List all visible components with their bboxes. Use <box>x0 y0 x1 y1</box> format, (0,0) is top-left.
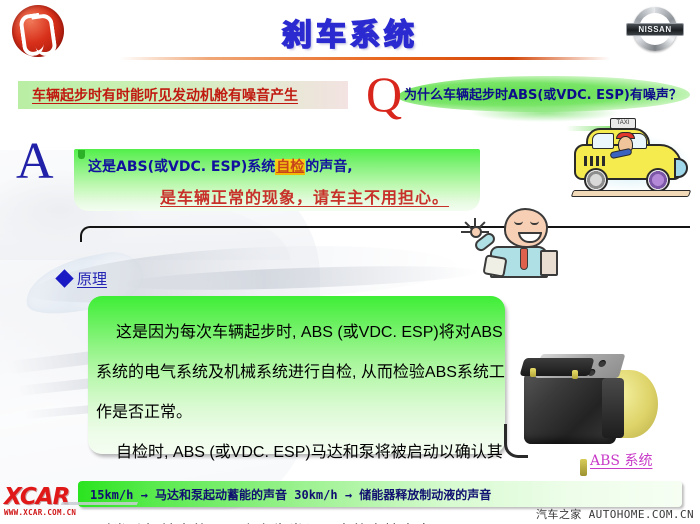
answer-line-1: 这是ABS(或VDC. ESP)系统自检的声音, <box>88 156 353 176</box>
principle-paragraph: 这是因为每次车辆起步时, ABS (或VDC. ESP)将对ABS <box>96 318 506 342</box>
question-mark-glyph: Q <box>366 69 402 119</box>
speed-sound-text: 15km/h → 马达和泵起动蓄能的声音 30km/h → 储能器释放制动液的声… <box>90 486 491 503</box>
abs-module-photo <box>516 352 666 462</box>
xcar-logo: XCAR WWW.XCAR.COM.CN <box>4 484 124 517</box>
nissan-logo-icon: NISSAN <box>624 6 686 56</box>
speed-sound-bar: 15km/h → 马达和泵起动蓄能的声音 30km/h → 储能器释放制动液的声… <box>78 481 682 507</box>
watermark-cn: 汽车之家 <box>536 508 582 521</box>
watermark-en: AUTOHOME.COM.CN <box>589 508 694 521</box>
diamond-bullet-icon <box>55 269 73 287</box>
answer-box-tab-icon <box>78 150 85 159</box>
taxi-cartoon-icon: TAXI <box>566 124 694 202</box>
answer-highlight-term: 自检 <box>275 159 305 175</box>
answer-underline-bracket <box>80 226 690 242</box>
answer-line1-pre: 这是ABS(或VDC. ESP)系统 <box>88 159 275 175</box>
decorative-swoosh-secondary <box>120 262 480 295</box>
xcar-logo-stroke-icon <box>58 502 138 511</box>
answer-line-2: 是车辆正常的现象，请车主不用担心。 <box>160 184 449 208</box>
answer-line1-post: 的声音, <box>305 159 352 175</box>
principle-paragraph: 时发动机舱内的ABS会产生类似噪声的自检声音。 <box>96 518 506 524</box>
principle-paragraph: 作是否正常。 <box>96 398 506 422</box>
principle-paragraph: 自检时, ABS (或VDC. ESP)马达和泵将被启动以确认其 <box>96 438 506 462</box>
slide-canvas: 刹车系统 NISSAN 车辆起步时有时能听见发动机舱有噪音产生 Q 为什么车辆起… <box>0 0 700 524</box>
header-divider <box>120 57 610 60</box>
question-highlight-blob-tail <box>470 104 620 122</box>
principle-label: 原理 <box>77 268 107 289</box>
principle-paragraph: 系统的电气系统及机械系统进行自检, 从而检验ABS系统工 <box>96 358 506 382</box>
page-title: 刹车系统 <box>0 10 700 54</box>
question-text: 为什么车辆起步时ABS(或VDC. ESP)有噪声？ <box>404 84 694 103</box>
principle-heading: 原理 <box>58 268 107 289</box>
autohome-watermark: 汽车之家 AUTOHOME.COM.CN <box>536 506 694 522</box>
answer-mark-glyph: A <box>16 136 54 188</box>
symptom-banner: 车辆起步时有时能听见发动机舱有噪音产生 <box>18 81 348 109</box>
abs-module-label: ABS 系统 <box>590 450 652 470</box>
person-cartoon-icon <box>468 206 572 278</box>
symptom-text: 车辆起步时有时能听见发动机舱有噪音产生 <box>32 85 298 105</box>
nissan-logo-text: NISSAN <box>626 23 684 36</box>
